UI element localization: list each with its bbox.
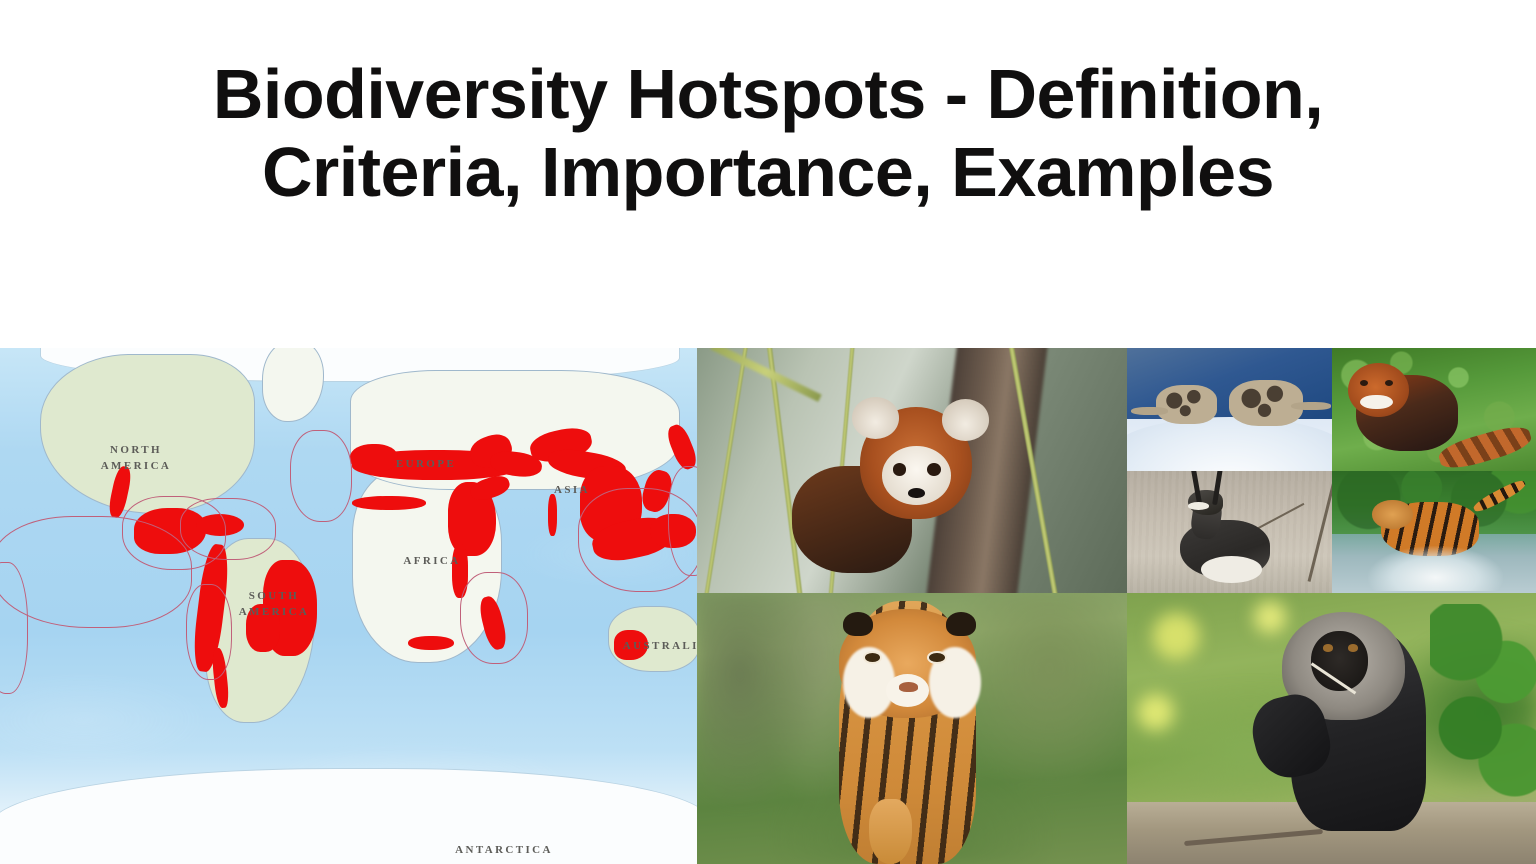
snow-leopard-left bbox=[1156, 385, 1217, 424]
tiger-eye-right bbox=[929, 653, 944, 662]
panda-nose bbox=[908, 488, 925, 498]
photo-tiger-walking[interactable] bbox=[697, 593, 1127, 864]
photo-snow-leopards[interactable] bbox=[1127, 348, 1332, 471]
antarctica-landmass bbox=[0, 768, 697, 864]
snow-leopard-right-tail bbox=[1291, 402, 1332, 411]
photo-red-panda-tree[interactable] bbox=[697, 348, 1127, 593]
slide-canvas: Biodiversity Hotspots - Definition, Crit… bbox=[0, 0, 1536, 864]
map-label-south: SOUTH bbox=[232, 590, 316, 602]
green-foliage-right bbox=[1430, 604, 1536, 805]
photo-lion-tailed-macaque[interactable] bbox=[1127, 593, 1536, 864]
blackbuck-white-belly bbox=[1201, 556, 1262, 583]
page-title-line-1: Biodiversity Hotspots - Definition, bbox=[213, 55, 1323, 133]
panda-ear-left bbox=[852, 397, 899, 439]
page-title-line-2: Criteria, Importance, Examples bbox=[262, 133, 1274, 211]
map-label-africa: AFRICA bbox=[390, 555, 474, 567]
title-block: Biodiversity Hotspots - Definition, Crit… bbox=[0, 0, 1536, 348]
red-panda-muzzle bbox=[1360, 395, 1393, 410]
water-splash bbox=[1368, 546, 1503, 590]
red-panda-eye-right bbox=[1385, 380, 1393, 386]
hotspot-outline-caribbean-east bbox=[290, 430, 352, 522]
animal-photo-grid bbox=[697, 348, 1536, 864]
blackbuck-face-patch bbox=[1188, 502, 1208, 509]
photo-tiger-water[interactable] bbox=[1332, 471, 1536, 594]
hotspot-cape-floristic bbox=[408, 636, 454, 650]
panda-eye-right bbox=[927, 463, 941, 476]
map-label-north: NORTH bbox=[94, 444, 178, 456]
photo-quad-group bbox=[1127, 348, 1536, 593]
hotspot-outline-mesoamerica bbox=[122, 496, 226, 570]
hotspot-outline-madagascar-islands bbox=[460, 572, 528, 664]
panda-eye-left bbox=[893, 463, 907, 476]
map-label-south-america: AMERICA bbox=[232, 606, 316, 618]
tiger-ear-left bbox=[843, 612, 873, 636]
macaque-eye-right bbox=[1348, 644, 1358, 651]
hotspot-outline-south-america bbox=[186, 584, 232, 680]
tiger-ear-right bbox=[946, 612, 976, 636]
snow-ridge bbox=[1127, 417, 1332, 471]
map-label-antarctica: ANTARCTICA bbox=[442, 844, 566, 856]
photo-red-panda-grass[interactable] bbox=[1332, 348, 1536, 471]
map-label-europe: EUROPE bbox=[384, 458, 468, 470]
tiger-front-paw bbox=[869, 799, 912, 864]
macaque-eye-left bbox=[1323, 644, 1333, 651]
map-label-asia: ASIA bbox=[534, 484, 610, 496]
snow-leopard-left-tail bbox=[1131, 407, 1168, 416]
world-hotspots-map[interactable]: NORTH AMERICA SOUTH AMERICA EUROPE AFRIC… bbox=[0, 348, 697, 864]
tiger-head bbox=[1372, 500, 1413, 529]
map-label-australia: AUSTRALIA bbox=[616, 640, 697, 652]
tiger-nose bbox=[899, 682, 918, 691]
map-label-north-america: AMERICA bbox=[94, 460, 178, 472]
hotspot-guinean-forests bbox=[352, 496, 426, 510]
content-strip: NORTH AMERICA SOUTH AMERICA EUROPE AFRIC… bbox=[0, 348, 1536, 864]
hotspot-western-ghats bbox=[548, 494, 557, 536]
tiger-eye-left bbox=[865, 653, 880, 662]
photo-blackbuck[interactable] bbox=[1127, 471, 1332, 594]
